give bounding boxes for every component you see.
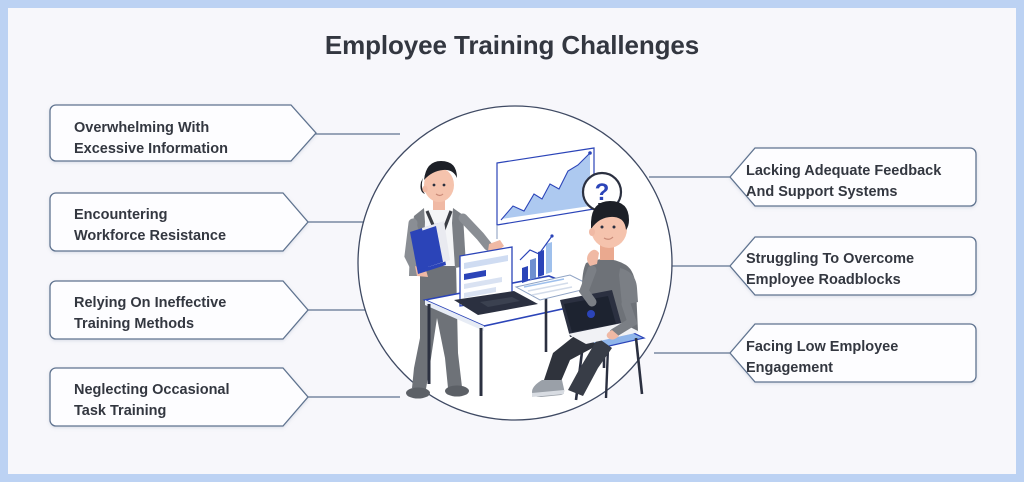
infographic-canvas: Employee Training Challenges bbox=[8, 8, 1016, 474]
callout-label-feedback-support: Lacking Adequate Feedback And Support Sy… bbox=[746, 161, 984, 202]
callout-label-low-engagement: Facing Low Employee Engagement bbox=[746, 337, 984, 378]
callout-label-overwhelming-information: Overwhelming With Excessive Information bbox=[74, 118, 284, 159]
callout-label-workforce-resistance: Encountering Workforce Resistance bbox=[74, 205, 284, 246]
callout-label-employee-roadblocks: Struggling To Overcome Employee Roadbloc… bbox=[746, 249, 984, 290]
callout-label-ineffective-methods: Relying On Ineffective Training Methods bbox=[74, 293, 284, 334]
central-illustration: ? bbox=[358, 106, 672, 420]
callout-label-occasional-task-training: Neglecting Occasional Task Training bbox=[74, 380, 284, 421]
illustration-circle bbox=[358, 106, 672, 420]
